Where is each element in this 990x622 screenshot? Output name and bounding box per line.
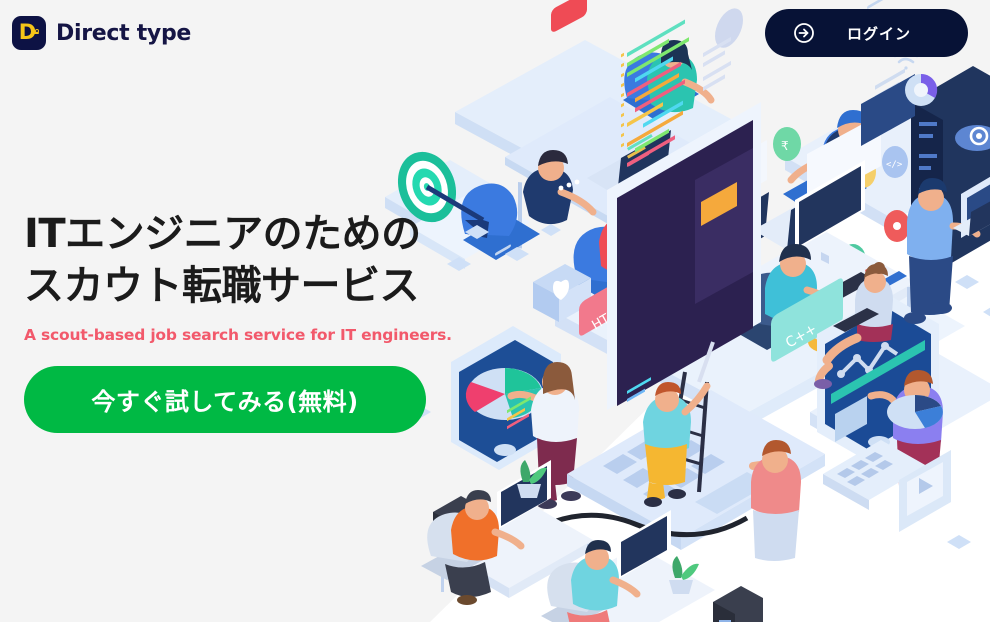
try-now-free-button[interactable]: 今すぐ試してみる(無料) bbox=[24, 366, 426, 433]
headline-line-2: スカウト転職サービス bbox=[24, 260, 454, 312]
landing-page: </> {} bbox=[0, 0, 990, 622]
lang-badge-green: ₹ bbox=[773, 127, 801, 161]
headline-line-1: ITエンジニアのための bbox=[24, 211, 421, 257]
logo-wordmark: Direct type bbox=[56, 21, 191, 46]
lang-badge-code: </> bbox=[882, 146, 908, 178]
pie-chart-decoration bbox=[887, 395, 943, 429]
hero-subheadline: A scout-based job search service for IT … bbox=[24, 326, 454, 344]
site-header: D Direct type ログイン bbox=[0, 0, 990, 70]
logo-key-shaft bbox=[31, 32, 39, 34]
sign-in-icon bbox=[793, 22, 815, 44]
donut-chart-icon bbox=[905, 74, 937, 106]
logo-link[interactable]: D Direct type bbox=[12, 16, 191, 50]
lang-badge-red bbox=[884, 210, 910, 242]
svg-text:₹: ₹ bbox=[781, 139, 789, 153]
login-button[interactable]: ログイン bbox=[765, 9, 968, 57]
page-title: ITエンジニアのための スカウト転職サービス bbox=[24, 208, 454, 312]
svg-text:</>: </> bbox=[886, 160, 903, 170]
direct-type-logo-icon: D bbox=[12, 16, 46, 50]
hero-section: ITエンジニアのための スカウト転職サービス A scout-based job… bbox=[24, 208, 454, 433]
login-button-label: ログイン bbox=[847, 23, 911, 44]
